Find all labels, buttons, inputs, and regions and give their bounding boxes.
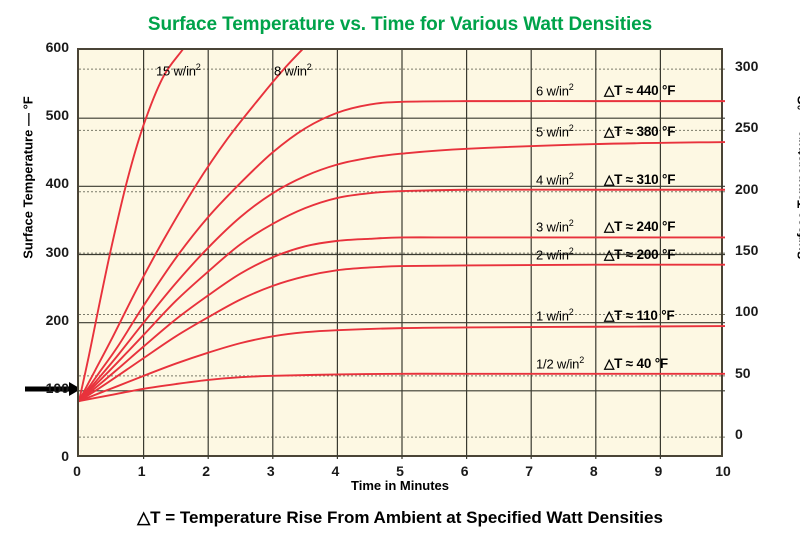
exponent: 2 [196, 62, 201, 72]
delta-t-label-1win: △T ≈ 110 °F [604, 308, 675, 324]
y-tick-label-right: 0 [735, 426, 781, 442]
x-tick-label: 1 [122, 463, 162, 479]
x-tick-label: 0 [57, 463, 97, 479]
delta-t-label-3win: △T ≈ 240 °F [604, 219, 675, 235]
x-tick-label: 4 [315, 463, 355, 479]
y-axis-title-right: Surface Temperature — °C [795, 88, 800, 268]
x-tick-label: 5 [380, 463, 420, 479]
exponent: 2 [569, 246, 574, 256]
y-tick-label-right: 50 [735, 365, 781, 381]
series-curve [79, 374, 725, 401]
delta-t-label-4win: △T ≈ 310 °F [604, 172, 675, 188]
delta-t-label-5win: △T ≈ 380 °F [604, 124, 675, 140]
y-tick-label-left: 100 [23, 380, 69, 396]
series-curve [79, 265, 725, 401]
y-tick-label-right: 200 [735, 181, 781, 197]
delta-t-label-2win: △T ≈ 200 °F [604, 247, 675, 263]
x-tick-label: 6 [445, 463, 485, 479]
curve-label-12win: 1/2 w/in2 [536, 355, 584, 371]
x-tick-label: 8 [574, 463, 614, 479]
y-tick-label-left: 200 [23, 312, 69, 328]
curve-label-5win: 5 w/in2 [536, 123, 574, 139]
x-tick-label: 2 [186, 463, 226, 479]
curve-label-8: 8 w/in2 [274, 62, 312, 78]
exponent: 2 [569, 171, 574, 181]
y-tick-label-left: 0 [23, 448, 69, 464]
y-tick-label-left: 600 [23, 39, 69, 55]
x-tick-label: 3 [251, 463, 291, 479]
x-tick-label: 7 [509, 463, 549, 479]
curve-label-1win: 1 w/in2 [536, 307, 574, 323]
chart-title: Surface Temperature vs. Time for Various… [0, 14, 800, 36]
x-tick-label: 10 [703, 463, 743, 479]
footer-note: △T = Temperature Rise From Ambient at Sp… [0, 508, 800, 528]
y-tick-label-right: 250 [735, 119, 781, 135]
y-tick-label-left: 400 [23, 175, 69, 191]
y-tick-label-right: 300 [735, 58, 781, 74]
exponent: 2 [569, 307, 574, 317]
curve-label-2win: 2 w/in2 [536, 246, 574, 262]
x-tick-label: 9 [638, 463, 678, 479]
y-tick-label-left: 500 [23, 107, 69, 123]
x-axis-title: Time in Minutes [0, 478, 800, 493]
curve-label-4win: 4 w/in2 [536, 171, 574, 187]
exponent: 2 [307, 62, 312, 72]
exponent: 2 [569, 82, 574, 92]
y-tick-label-right: 150 [735, 242, 781, 258]
curve-label-15: 15 w/in2 [156, 62, 201, 78]
exponent: 2 [569, 218, 574, 228]
y-tick-label-right: 100 [735, 303, 781, 319]
chart-root: Surface Temperature vs. Time for Various… [0, 0, 800, 550]
y-tick-label-left: 300 [23, 244, 69, 260]
delta-t-label-12win: △T ≈ 40 °F [604, 356, 668, 372]
exponent: 2 [579, 355, 584, 365]
curve-label-6win: 6 w/in2 [536, 82, 574, 98]
delta-t-label-6win: △T ≈ 440 °F [604, 83, 675, 99]
curve-label-3win: 3 w/in2 [536, 218, 574, 234]
exponent: 2 [569, 123, 574, 133]
